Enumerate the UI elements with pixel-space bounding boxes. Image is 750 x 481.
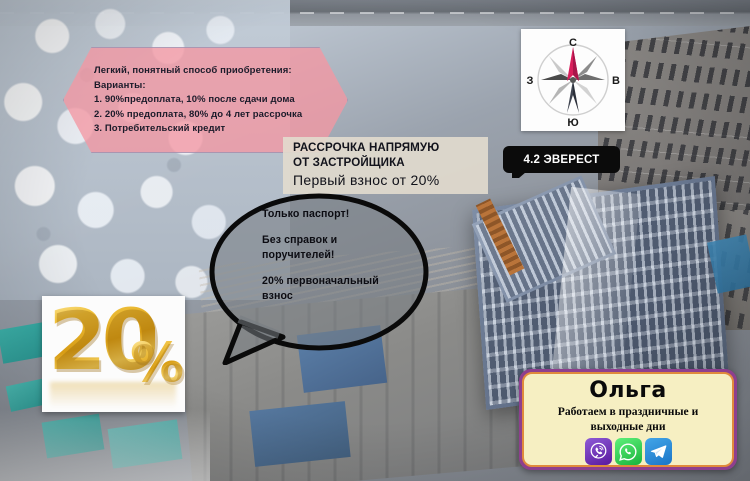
contact-hours-line-1: Работаем в праздничные и	[558, 404, 699, 419]
spacer	[262, 263, 417, 274]
installment-caption-line-1: РАССРОЧКА НАПРЯМУЮ	[293, 141, 488, 156]
condition-line: Без справок и	[262, 233, 417, 248]
viber-icon[interactable]	[585, 438, 612, 465]
gold-discount-badge: 20 %	[42, 296, 185, 412]
purchase-options-list: Легкий, понятный способ приобретения: Ва…	[94, 64, 339, 137]
installment-caption-line-2: ОТ ЗАСТРОЙЩИКА	[293, 156, 488, 171]
condition-line: Только паспорт!	[262, 207, 417, 222]
purchase-options-line: 3. Потребительский кредит	[94, 122, 339, 137]
contact-card-inner: Ольга Работаем в праздничные и выходные …	[522, 372, 734, 467]
viber-glyph	[589, 442, 608, 461]
map-place-label-text: 4.2 ЭВЕРЕСТ	[524, 154, 600, 166]
contact-hours-line-2: выходные дни	[591, 419, 666, 434]
map-snow-bottom	[0, 409, 210, 481]
map-place-label[interactable]: 4.2 ЭВЕРЕСТ	[503, 146, 620, 173]
purchase-options-line: 1. 90%предоплата, 10% после сдачи дома	[94, 93, 339, 108]
contact-card: Ольга Работаем в праздничные и выходные …	[519, 369, 737, 470]
compass-label-west: З	[527, 75, 534, 87]
contact-name: Ольга	[589, 379, 667, 402]
aerial-map-promo-image: Легкий, понятный способ приобретения: Ва…	[0, 0, 750, 481]
gold-reflection	[50, 382, 176, 408]
compass-label-south: Ю	[567, 117, 578, 129]
whatsapp-icon[interactable]	[615, 438, 642, 465]
condition-line: поручителей!	[262, 248, 417, 263]
compass-label-east: В	[612, 75, 620, 87]
whatsapp-glyph	[618, 442, 638, 462]
condition-line: 20% первоначальный	[262, 274, 417, 289]
purchase-options-line: Легкий, понятный способ приобретения:	[94, 64, 339, 79]
installment-headline-block: РАССРОЧКА НАПРЯМУЮ ОТ ЗАСТРОЙЩИКА Первый…	[283, 137, 488, 194]
purchase-options-line: 2. 20% предоплата, 80% до 4 лет рассрочк…	[94, 108, 339, 123]
messenger-icon-row	[585, 438, 672, 465]
telegram-icon[interactable]	[645, 438, 672, 465]
telegram-glyph	[649, 442, 668, 461]
purchase-options-line: Варианты:	[94, 79, 339, 94]
map-building-roof-b	[249, 401, 350, 467]
conditions-speech-bubble: Только паспорт! Без справок и поручителе…	[205, 187, 430, 365]
condition-line: взнос	[262, 289, 417, 304]
compass-rose-icon: С З В Ю	[521, 29, 625, 131]
compass-label-north: С	[569, 37, 577, 49]
spacer	[262, 222, 417, 233]
conditions-text: Только паспорт! Без справок и поручителе…	[262, 207, 417, 304]
compass-rose: С З В Ю	[521, 29, 625, 131]
